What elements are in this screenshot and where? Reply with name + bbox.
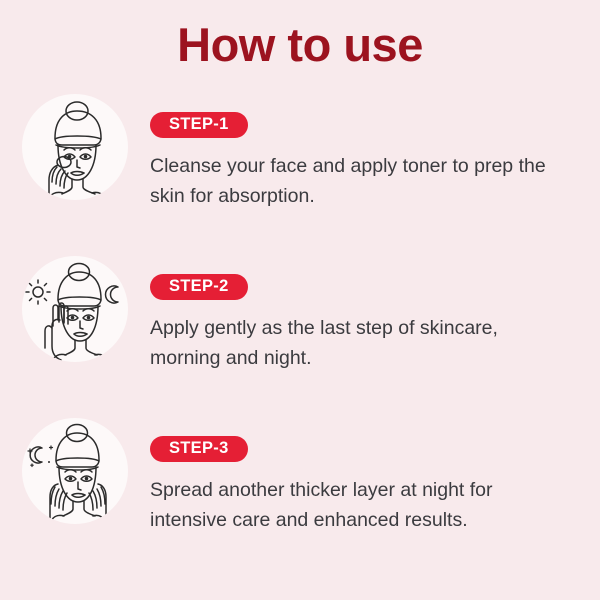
woman-applying-cream-one-hand-icon — [22, 256, 128, 362]
woman-applying-cream-both-hands-icon — [22, 418, 128, 524]
page-title: How to use — [0, 14, 600, 76]
step-1-description: Cleanse your face and apply toner to pre… — [150, 151, 550, 211]
step-1-illustration — [0, 92, 150, 200]
status-badge: STEP-2 — [150, 274, 248, 300]
steps-list: STEP-1 Cleanse your face and apply toner… — [0, 92, 600, 578]
how-to-use-poster: How to use — [0, 0, 600, 600]
list-item: STEP-2 Apply gently as the last step of … — [0, 254, 600, 416]
status-badge: STEP-3 — [150, 436, 248, 462]
step-1-content: STEP-1 Cleanse your face and apply toner… — [150, 92, 600, 211]
step-2-description: Apply gently as the last step of skincar… — [150, 313, 550, 373]
sun-icon — [26, 280, 50, 304]
status-badge: STEP-1 — [150, 112, 248, 138]
step-2-illustration — [0, 254, 150, 362]
illustration-circle — [22, 94, 128, 200]
illustration-circle — [22, 418, 128, 524]
step-3-illustration — [0, 416, 150, 524]
step-3-description: Spread another thicker layer at night fo… — [150, 475, 550, 535]
illustration-circle — [22, 256, 128, 362]
step-2-content: STEP-2 Apply gently as the last step of … — [150, 254, 600, 373]
crescent-moon-icon — [106, 286, 118, 303]
woman-applying-toner-with-cotton-pad-icon — [22, 94, 128, 200]
step-3-content: STEP-3 Spread another thicker layer at n… — [150, 416, 600, 535]
list-item: STEP-3 Spread another thicker layer at n… — [0, 416, 600, 578]
crescent-moon-with-stars-icon — [28, 446, 53, 467]
list-item: STEP-1 Cleanse your face and apply toner… — [0, 92, 600, 254]
